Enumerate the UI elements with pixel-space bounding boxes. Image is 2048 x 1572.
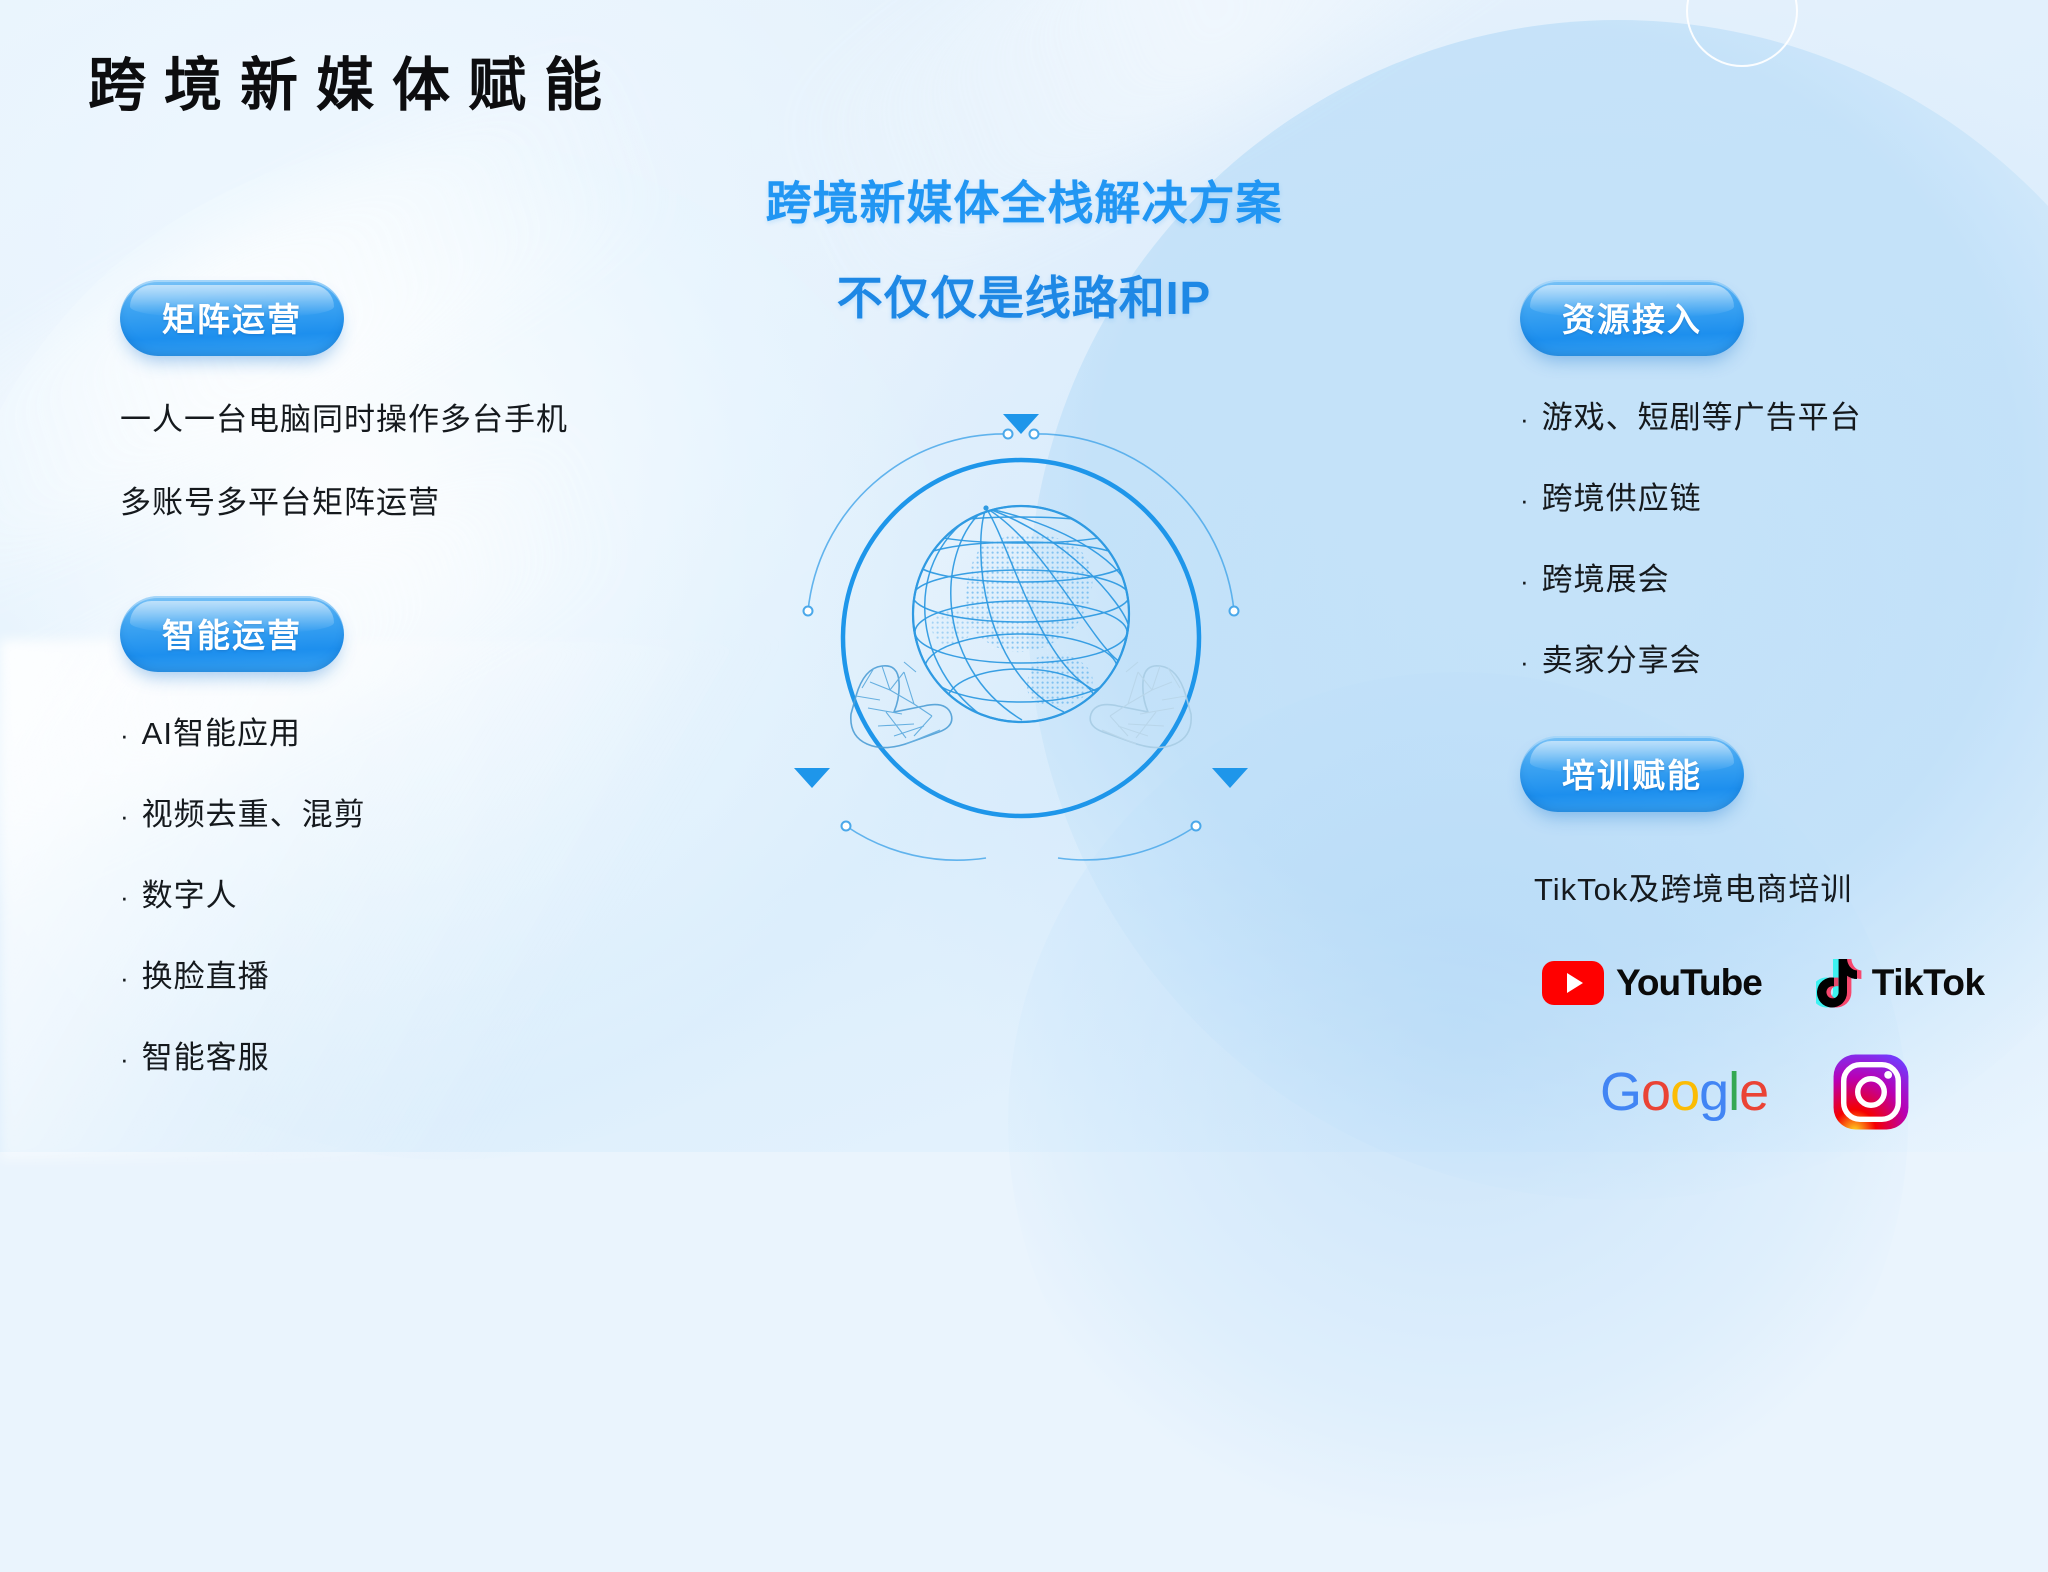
bullet-dot-icon: · (120, 965, 130, 991)
list-item: · 智能客服 (120, 1032, 740, 1077)
youtube-play-icon (1542, 961, 1604, 1005)
tiktok-wordmark: TikTok (1872, 962, 1985, 1004)
bullet-dot-icon: · (120, 722, 130, 748)
group-resource-access: 资源接入 · 游戏、短剧等广告平台 · 跨境供应链 · 跨境展会 · 卖家分享会 (1520, 280, 2048, 680)
badge-resource-access[interactable]: 资源接入 (1520, 280, 1744, 356)
list-item-label: 跨境供应链 (1542, 473, 1702, 518)
play-triangle-icon (1567, 973, 1583, 993)
list-item: · 跨境供应链 (1520, 473, 2048, 518)
list-item-label: 智能客服 (142, 1032, 270, 1077)
list-item: · 游戏、短剧等广告平台 (1520, 392, 2048, 437)
list-item-label: 数字人 (142, 870, 238, 915)
headline-line-1: 跨境新媒体全栈解决方案 (524, 178, 1524, 229)
google-logo[interactable]: Google (1600, 1061, 1768, 1123)
logo-row-primary: YouTube TikTok (1542, 957, 2048, 1009)
list-item-label: 跨境展会 (1542, 554, 1670, 599)
tiktok-logo[interactable]: TikTok (1816, 957, 1985, 1009)
list-item-label: 视频去重、混剪 (142, 789, 366, 834)
list-item: · 跨境展会 (1520, 554, 2048, 599)
list-item: · 换脸直播 (120, 951, 740, 996)
bullet-dot-icon: · (1520, 568, 1530, 594)
google-letter-e: e (1739, 1061, 1768, 1123)
list-item: · 数字人 (120, 870, 740, 915)
badge-smart-operations[interactable]: 智能运营 (120, 596, 344, 672)
group-matrix-operations: 矩阵运营 一人一台电脑同时操作多台手机 多账号多平台矩阵运营 (120, 280, 740, 522)
youtube-wordmark: YouTube (1616, 962, 1762, 1004)
bullet-dot-icon: · (120, 803, 130, 829)
group-training-empowerment: 培训赋能 TikTok及跨境电商培训 YouTube TikTok (1520, 736, 2048, 1131)
list-item: · 卖家分享会 (1520, 635, 2048, 680)
badge-training-empowerment[interactable]: 培训赋能 (1520, 736, 1744, 812)
training-description: TikTok及跨境电商培训 (1534, 864, 2048, 909)
instagram-dot-icon (1884, 1071, 1892, 1079)
badge-matrix-operations[interactable]: 矩阵运营 (120, 280, 344, 356)
list-item-label: 换脸直播 (142, 951, 270, 996)
text-line: 多账号多平台矩阵运营 (120, 477, 740, 522)
bullet-dot-icon: · (120, 884, 130, 910)
page-title: 跨境新媒体赋能 (88, 38, 620, 122)
instagram-logo[interactable] (1832, 1053, 1910, 1131)
google-letter-g: g (1699, 1061, 1728, 1123)
globe-pole-node (983, 505, 988, 510)
list-item-label: AI智能应用 (142, 708, 301, 753)
google-letter-o1: o (1641, 1061, 1670, 1123)
globe-in-hands-illustration (786, 396, 1256, 866)
tiktok-note-icon (1816, 957, 1862, 1009)
right-column: 资源接入 · 游戏、短剧等广告平台 · 跨境供应链 · 跨境展会 · 卖家分享会… (1520, 280, 2048, 1131)
list-item-label: 卖家分享会 (1542, 635, 1702, 680)
text-line: 一人一台电脑同时操作多台手机 (120, 394, 740, 439)
google-letter-l: l (1728, 1061, 1739, 1123)
group-smart-operations: 智能运营 · AI智能应用 · 视频去重、混剪 · 数字人 · 换脸直播 · 智… (120, 596, 740, 1077)
left-column: 矩阵运营 一人一台电脑同时操作多台手机 多账号多平台矩阵运营 智能运营 · AI… (120, 280, 740, 1077)
list-item: · 视频去重、混剪 (120, 789, 740, 834)
bullet-dot-icon: · (1520, 406, 1530, 432)
youtube-logo[interactable]: YouTube (1542, 961, 1762, 1005)
list-item-label: 游戏、短剧等广告平台 (1542, 392, 1862, 437)
wireframe-globe (913, 505, 1129, 733)
spacer (120, 522, 740, 596)
bullet-dot-icon: · (120, 1046, 130, 1072)
google-letter-G: G (1600, 1061, 1641, 1123)
spacer (1520, 680, 2048, 736)
logo-row-secondary: Google (1600, 1053, 2048, 1131)
bullet-dot-icon: · (1520, 487, 1530, 513)
bullet-dot-icon: · (1520, 649, 1530, 675)
list-item: · AI智能应用 (120, 708, 740, 753)
google-letter-o2: o (1670, 1061, 1699, 1123)
